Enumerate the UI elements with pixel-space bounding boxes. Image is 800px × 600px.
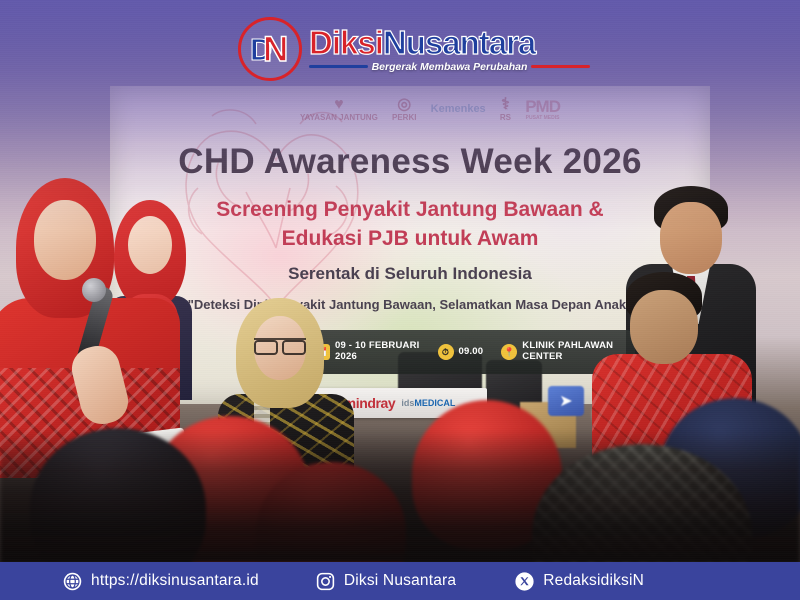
location-pin-icon: 📍: [501, 344, 517, 360]
diksi-nusantara-watermark: D N DiksiNusantara Bergerak Membawa Peru…: [238, 18, 590, 80]
watermark-wordmark: DiksiNusantara Bergerak Membawa Perubaha…: [309, 26, 590, 73]
website-link[interactable]: https://diksinusantara.id: [62, 571, 259, 592]
brand-name-part1: Diksi: [309, 24, 383, 61]
brand-name-part2: Nusantara: [383, 24, 535, 61]
x-twitter-link[interactable]: RedaksidiksiN: [514, 571, 644, 592]
instagram-icon: [315, 571, 336, 592]
x-twitter-icon: [514, 571, 535, 592]
foreground-shadow: [0, 430, 800, 564]
brand-name: DiksiNusantara: [309, 26, 590, 59]
dn-monogram-icon: D N: [238, 17, 302, 81]
event-info-bar: 📅 09 - 10 FEBRUARI2026 ⏱ 09.00 📍 KLINIK …: [305, 330, 635, 374]
microphone-head: [82, 278, 106, 302]
eyeglasses: [254, 338, 306, 352]
instagram-link[interactable]: Diksi Nusantara: [315, 571, 456, 592]
monogram-letter-n: N: [263, 30, 288, 70]
clock-icon: ⏱: [438, 344, 454, 360]
brand-tagline: Bergerak Membawa Perubahan: [372, 61, 528, 73]
event-photo-screenshot: CHD Awareness Week 2026 Screening Penyak…: [0, 0, 800, 600]
event-time: 09.00: [459, 347, 484, 358]
event-time-group: ⏱ 09.00: [429, 344, 493, 360]
social-footer-bar: https://diksinusantara.id Diksi Nusantar…: [0, 562, 800, 600]
panelist-man-face: [630, 290, 698, 364]
tagline-rule-right: [531, 65, 590, 68]
x-twitter-label: RedaksidiksiN: [543, 572, 644, 590]
tagline-rule-left: [309, 65, 368, 68]
brand-tagline-row: Bergerak Membawa Perubahan: [309, 61, 590, 73]
website-label: https://diksinusantara.id: [91, 572, 259, 590]
banner-subtitle-line2: Edukasi PJB untuk Awam: [110, 227, 710, 251]
event-photograph: CHD Awareness Week 2026 Screening Penyak…: [0, 0, 800, 600]
globe-icon: [62, 571, 83, 592]
instagram-label: Diksi Nusantara: [344, 572, 456, 590]
